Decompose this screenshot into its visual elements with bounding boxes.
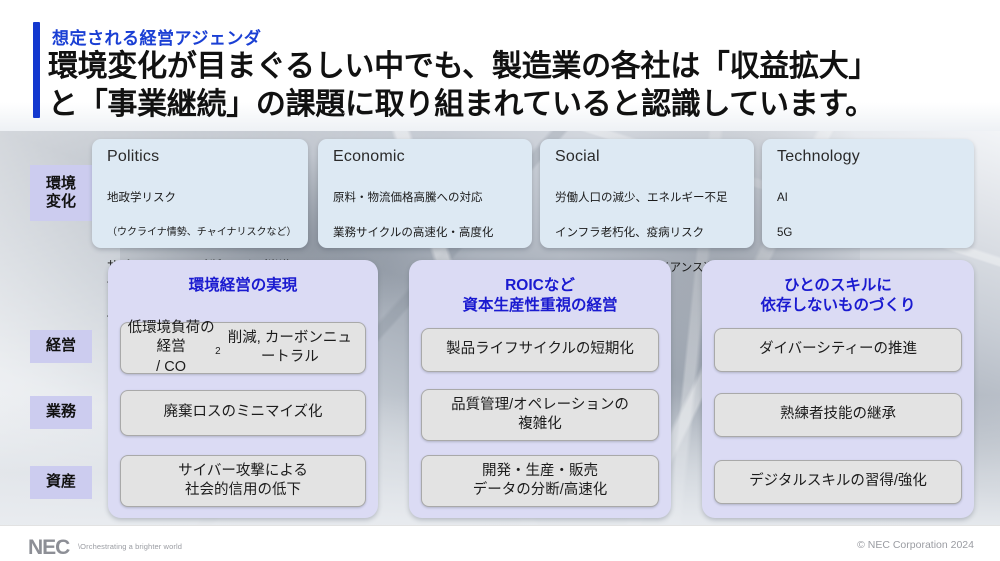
pest-line: 労働人口の減少、エネルギー不足 [555, 190, 741, 207]
accent-bar [33, 22, 40, 118]
pest-card-politics[interactable]: Politics 地政学リスク （ウクライナ情勢、チャイナリスクなど） サプライ… [92, 139, 308, 248]
pest-title-economic: Economic [333, 148, 519, 166]
pest-line: 5G [777, 225, 961, 242]
pest-line: 業務サイクルの高速化・高度化 [333, 225, 519, 242]
pest-line: AI [777, 190, 961, 207]
card-product-lifecycle-short[interactable]: 製品ライフサイクルの短期化 [421, 328, 659, 372]
pest-line: 地政学リスク [107, 190, 295, 207]
pest-title-technology: Technology [777, 148, 961, 166]
column-title-environmental-management: 環境経営の実現 [108, 276, 378, 296]
slide-root: 想定される経営アジェンダ 環境変化が目まぐるしい中でも、製造業の各社は「収益拡大… [0, 0, 1000, 561]
nec-logo: NEC [28, 536, 69, 560]
pest-line: （ウクライナ情勢、チャイナリスクなど） [107, 225, 295, 240]
pest-body-economic: 原料・物流価格高騰への対応 業務サイクルの高速化・高度化 [333, 173, 519, 260]
pest-line: 原料・物流価格高騰への対応 [333, 190, 519, 207]
row-label-environment-change: 環境 変化 [30, 165, 92, 221]
pest-card-technology[interactable]: Technology AI 5G 量子コンピューティング メタバース, VR, … [762, 139, 974, 248]
row-label-assets: 資産 [30, 466, 92, 499]
eyebrow-label: 想定される経営アジェンダ [52, 24, 261, 49]
column-title-roic-capital-productivity: ROICなど 資本生産性重視の経営 [409, 276, 671, 316]
card-low-impact-management[interactable]: 低環境負荷の経営/ CO2削減, カーボンニュートラル [120, 322, 366, 374]
card-waste-loss-minimize[interactable]: 廃棄ロスのミニマイズ化 [120, 390, 366, 436]
pest-title-social: Social [555, 148, 741, 166]
row-label-operations: 業務 [30, 396, 92, 429]
pest-title-politics: Politics [107, 148, 295, 166]
slide-header: 想定される経営アジェンダ 環境変化が目まぐるしい中でも、製造業の各社は「収益拡大… [0, 0, 1000, 131]
card-dev-prod-sales-data[interactable]: 開発・生産・販売データの分断/高速化 [421, 455, 659, 507]
nec-tagline: \Orchestrating a brighter world [78, 542, 182, 551]
card-quality-operation-complex[interactable]: 品質管理/オペレーションの複雑化 [421, 389, 659, 441]
card-skilled-worker-succession[interactable]: 熟練者技能の継承 [714, 393, 962, 437]
card-digital-skill-acquisition[interactable]: デジタルスキルの習得/強化 [714, 460, 962, 504]
page-title: 環境変化が目まぐるしい中でも、製造業の各社は「収益拡大」 と「事業継続」の課題に… [48, 48, 978, 123]
copyright-text: © NEC Corporation 2024 [857, 539, 974, 551]
column-title-skill-independent-manufacturing: ひとのスキルに 依存しないものづくり [702, 276, 974, 316]
pest-card-economic[interactable]: Economic 原料・物流価格高騰への対応 業務サイクルの高速化・高度化 [318, 139, 532, 248]
pest-line: インフラ老朽化、疫病リスク [555, 225, 741, 242]
pest-card-social[interactable]: Social 労働人口の減少、エネルギー不足 インフラ老朽化、疫病リスク 環境対… [540, 139, 754, 248]
card-diversity-promotion[interactable]: ダイバーシティーの推進 [714, 328, 962, 372]
row-label-management: 経営 [30, 330, 92, 363]
card-cyber-attack-trust[interactable]: サイバー攻撃による社会的信用の低下 [120, 455, 366, 507]
